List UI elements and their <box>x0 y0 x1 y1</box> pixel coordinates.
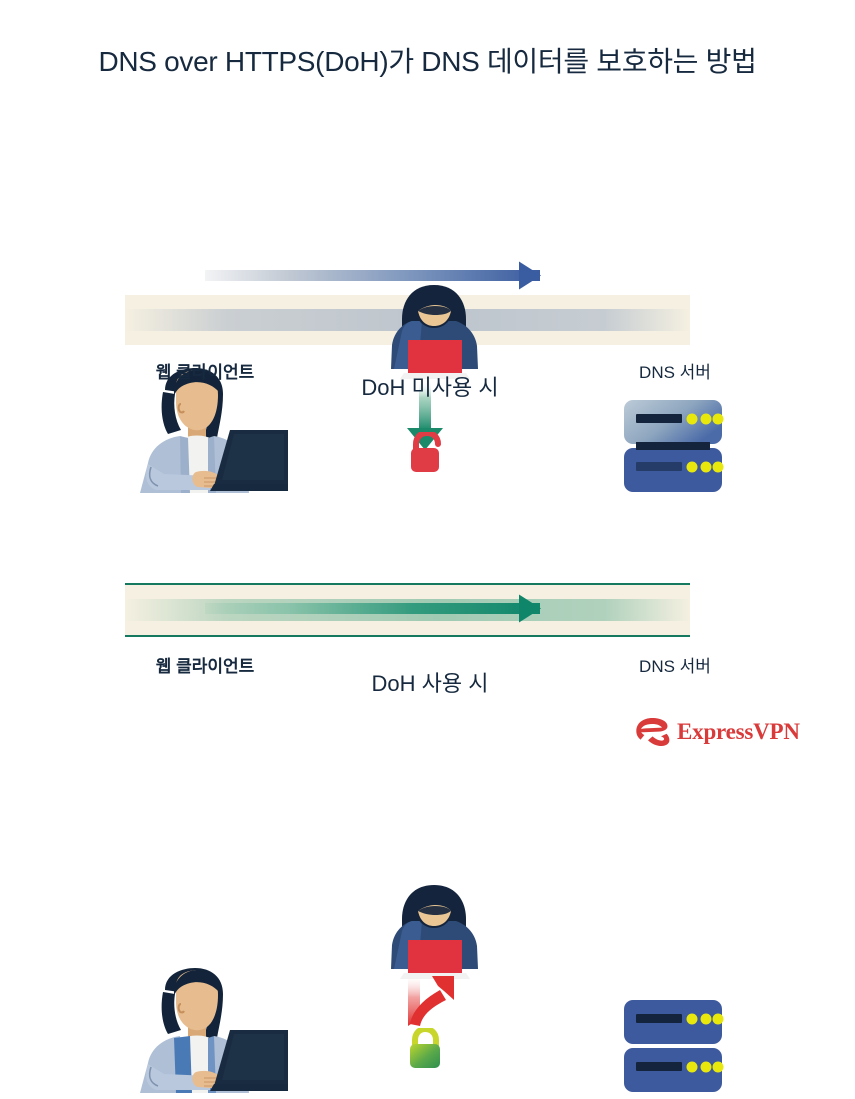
dns-server-figure <box>618 998 728 1094</box>
locked-padlock <box>406 1028 444 1070</box>
padlock-closed-icon <box>406 1028 444 1070</box>
hooded-attacker-icon <box>382 883 487 983</box>
flow-arrow-shaft <box>205 603 540 614</box>
deflected-arrow-icon <box>396 974 458 1036</box>
dns-server-icon <box>618 998 728 1094</box>
expressvpn-e-mark-icon <box>636 717 670 747</box>
page-title: DNS over HTTPS(DoH)가 DNS 데이터를 보호하는 방법 <box>0 40 855 80</box>
web-client-figure <box>118 968 288 1093</box>
expressvpn-wordmark: ExpressVPN <box>677 719 800 745</box>
flow-arrow-to-server-encrypted <box>205 602 540 615</box>
intercept-blocked-arrow <box>396 974 458 1036</box>
mode-label-with-doh: DoH 사용 시 <box>280 666 580 698</box>
mode-label-without-doh: DoH 미사용 시 <box>280 370 580 402</box>
hacker-figure <box>382 883 487 983</box>
hooded-attacker-icon <box>382 283 487 383</box>
flow-arrow-shaft <box>205 270 540 281</box>
flow-arrow-head <box>519 261 541 289</box>
person-at-laptop-icon <box>118 968 288 1093</box>
server-label-plain: DNS 서버 <box>565 358 785 383</box>
flow-arrow-to-server <box>205 269 540 282</box>
server-label-doh: DNS 서버 <box>565 652 785 677</box>
flow-arrow-head <box>519 594 541 622</box>
hacker-figure <box>382 283 487 383</box>
expressvpn-logo: ExpressVPN <box>636 712 796 752</box>
